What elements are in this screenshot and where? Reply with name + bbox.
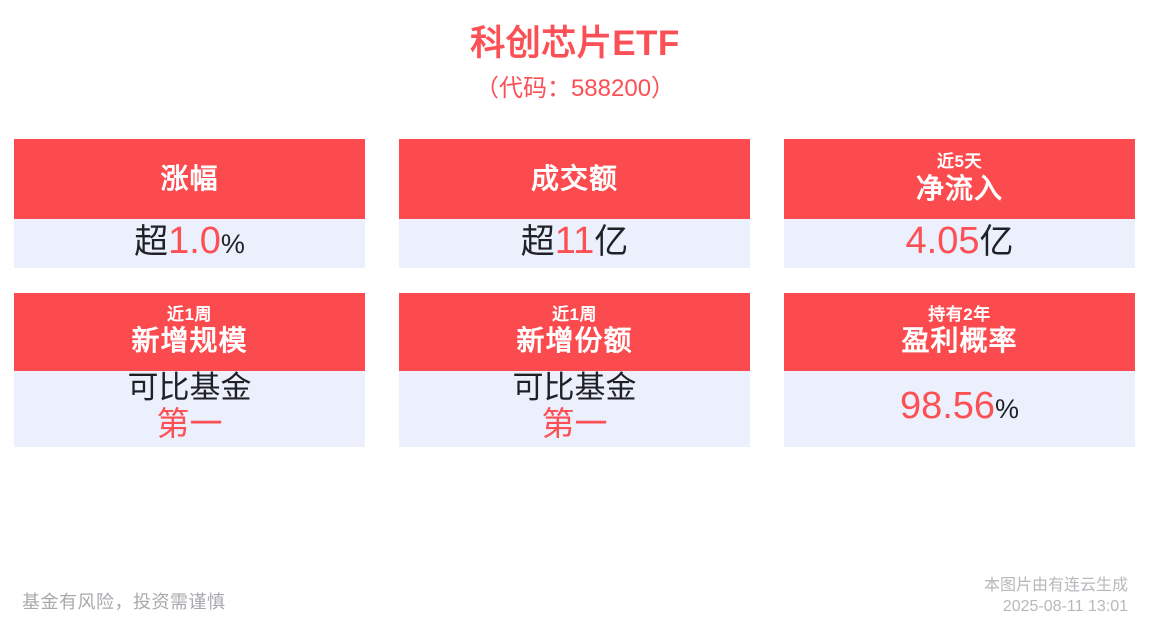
value-number: 1.0 — [168, 219, 221, 264]
card-body-turnover: 超 11 亿 — [399, 219, 750, 268]
title-block: 科创芯片ETF （代码：588200） — [0, 0, 1150, 104]
value-suffix: 亿 — [594, 222, 628, 262]
page-title: 科创芯片ETF — [0, 22, 1150, 66]
card-body-change: 超 1.0 % — [14, 219, 365, 268]
value-number: 98.56 — [900, 384, 995, 429]
risk-disclaimer: 基金有风险，投资需谨慎 — [22, 588, 226, 618]
card-title: 成交额 — [531, 162, 618, 196]
generated-timestamp: 2025-08-11 13:01 — [984, 596, 1128, 618]
metric-value-profit-probability: 98.56 % — [900, 384, 1019, 429]
value-suffix: % — [221, 229, 245, 261]
metric-rank-value: 第一 — [157, 406, 223, 443]
generated-by-label: 本图片由有连云生成 — [984, 575, 1128, 597]
card-body-profit-probability: 98.56 % — [784, 371, 1135, 447]
card-body-new-scale: 可比基金 第一 — [14, 371, 365, 447]
card-header-net-inflow: 近5天 净流入 — [784, 139, 1135, 219]
generation-info: 本图片由有连云生成 2025-08-11 13:01 — [984, 575, 1128, 618]
metric-peer-label: 可比基金 — [128, 371, 252, 406]
card-header-change: 涨幅 — [14, 139, 365, 219]
metric-card-new-shares[interactable]: 近1周 新增份额 可比基金 第一 — [399, 293, 750, 447]
card-title: 净流入 — [916, 172, 1003, 206]
metric-value-change: 超 1.0 % — [134, 219, 245, 264]
fund-code-label: （代码：588200） — [0, 74, 1150, 104]
metric-value-net-inflow: 4.05 亿 — [906, 219, 1014, 264]
value-suffix: 亿 — [979, 222, 1013, 262]
card-eyebrow: 持有2年 — [928, 306, 990, 325]
metric-peer-label: 可比基金 — [513, 371, 637, 406]
card-body-new-shares: 可比基金 第一 — [399, 371, 750, 447]
card-body-net-inflow: 4.05 亿 — [784, 219, 1135, 268]
value-prefix: 超 — [134, 222, 168, 262]
card-eyebrow: 近1周 — [552, 306, 597, 325]
metric-card-change[interactable]: 涨幅 超 1.0 % — [14, 139, 365, 268]
value-suffix: % — [995, 394, 1019, 426]
card-header-profit-probability: 持有2年 盈利概率 — [784, 293, 1135, 371]
metric-card-net-inflow[interactable]: 近5天 净流入 4.05 亿 — [784, 139, 1135, 268]
card-eyebrow: 近5天 — [937, 153, 982, 172]
value-number: 11 — [555, 219, 594, 264]
metric-card-profit-probability[interactable]: 持有2年 盈利概率 98.56 % — [784, 293, 1135, 447]
value-prefix: 超 — [521, 222, 555, 262]
value-number: 4.05 — [906, 219, 980, 264]
metric-card-new-scale[interactable]: 近1周 新增规模 可比基金 第一 — [14, 293, 365, 447]
card-title: 新增份额 — [516, 324, 632, 358]
metric-value-turnover: 超 11 亿 — [521, 219, 628, 264]
card-header-new-shares: 近1周 新增份额 — [399, 293, 750, 371]
metric-card-turnover[interactable]: 成交额 超 11 亿 — [399, 139, 750, 268]
metric-rank-value: 第一 — [542, 406, 608, 443]
footer: 基金有风险，投资需谨慎 本图片由有连云生成 2025-08-11 13:01 — [0, 568, 1150, 632]
card-header-turnover: 成交额 — [399, 139, 750, 219]
card-header-new-scale: 近1周 新增规模 — [14, 293, 365, 371]
card-title: 涨幅 — [160, 162, 218, 196]
metric-card-grid: 涨幅 超 1.0 % 成交额 超 11 亿 近5天 净流入 — [14, 139, 1136, 447]
card-title: 新增规模 — [131, 324, 247, 358]
card-eyebrow: 近1周 — [167, 306, 212, 325]
card-title: 盈利概率 — [901, 324, 1017, 358]
